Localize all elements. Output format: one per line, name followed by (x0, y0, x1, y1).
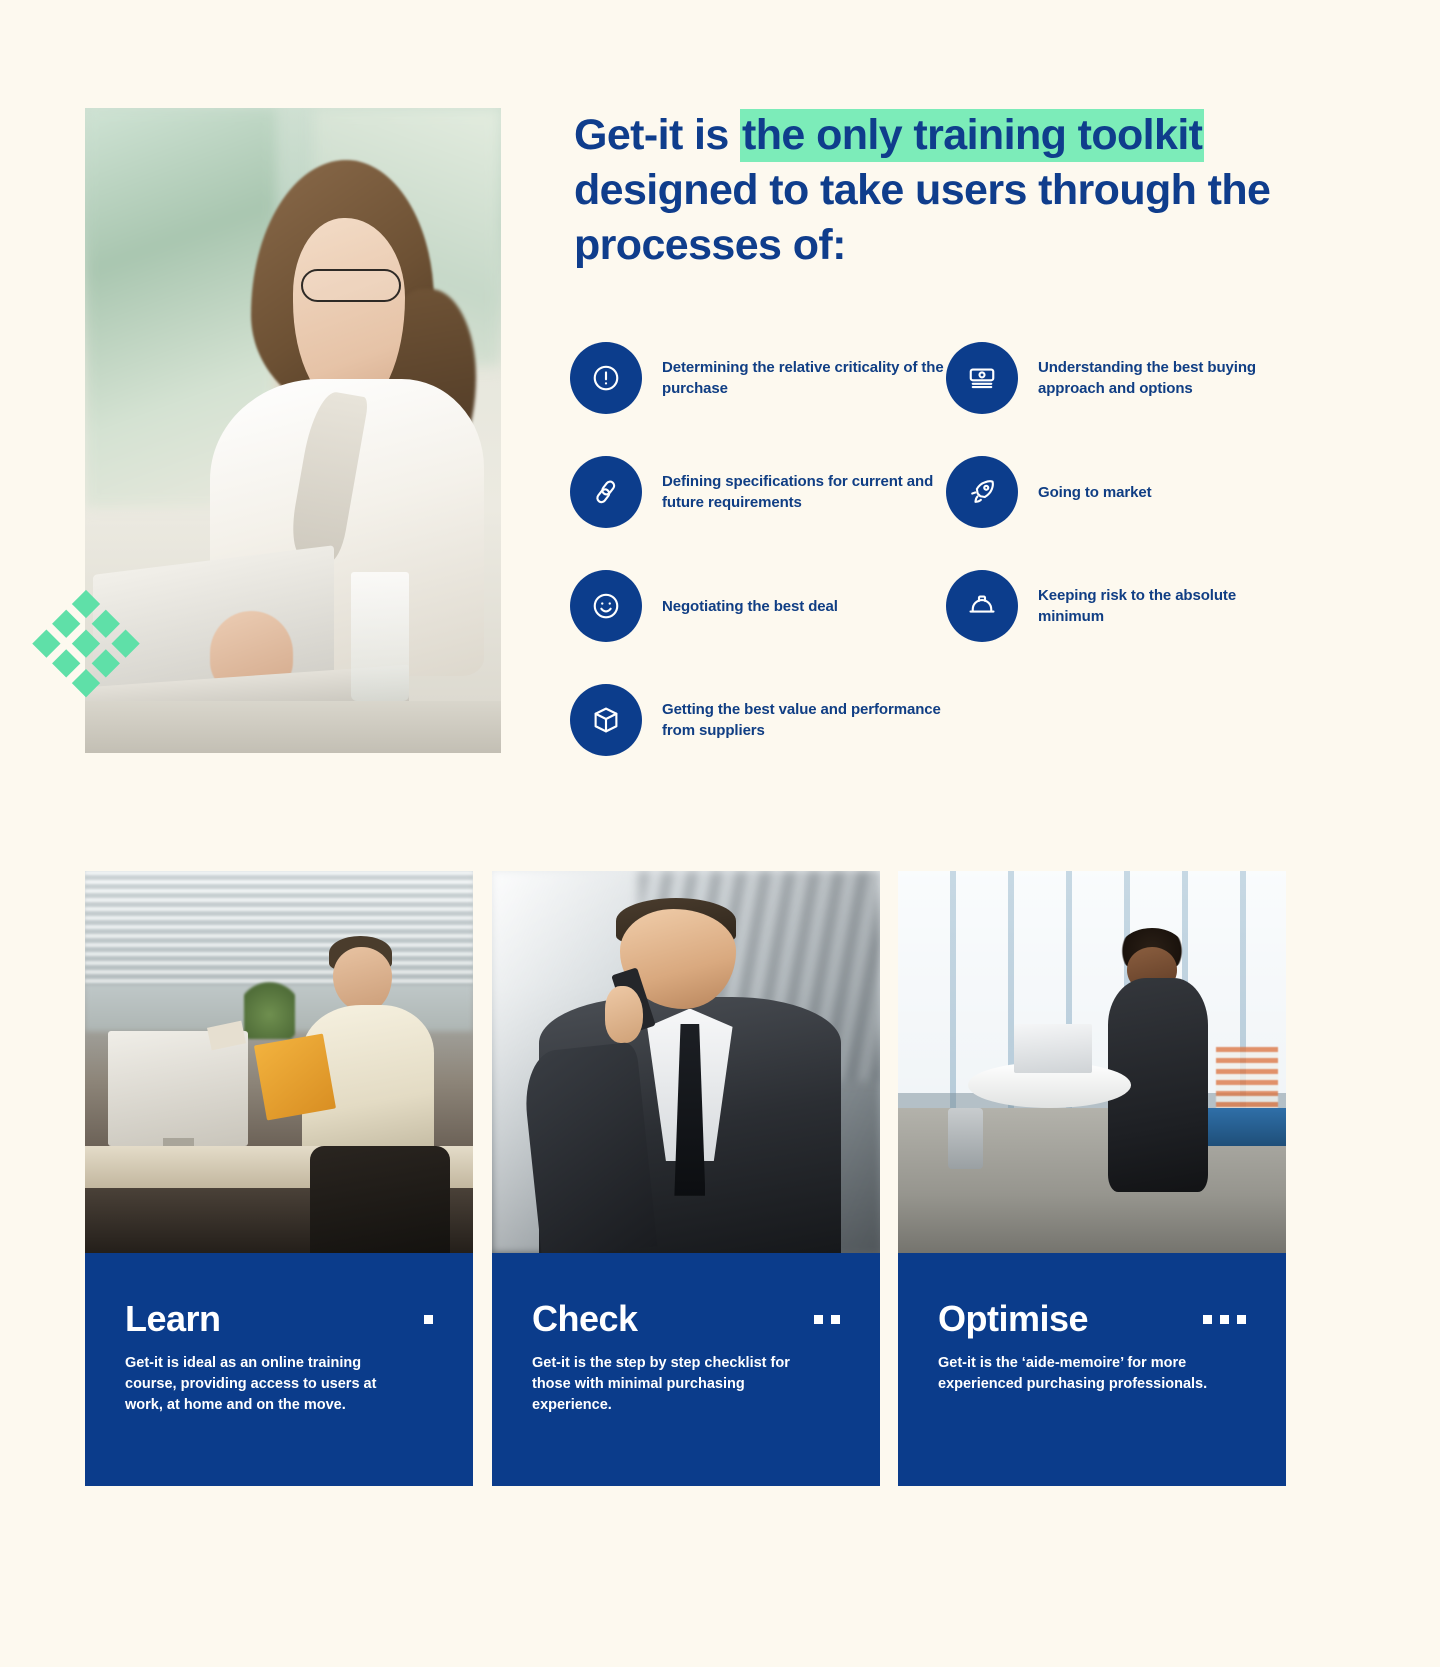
man-on-phone-in-suit-photo (492, 871, 880, 1253)
feature-item-buying-approach: Understanding the best buying approach a… (946, 340, 1286, 416)
step-dot (814, 1315, 823, 1324)
card-body-check: Check Get-it is the step by step checkli… (492, 1253, 880, 1486)
card-title: Check (532, 1299, 638, 1339)
woman-at-laptop-photo (85, 108, 501, 753)
photo-laptop (1014, 1024, 1092, 1074)
card-body-learn: Learn Get-it is ideal as an online train… (85, 1253, 473, 1486)
photo-plant (244, 978, 294, 1039)
card-title-row: Optimise (938, 1299, 1246, 1339)
card-step-dots-3 (1203, 1315, 1246, 1324)
feature-label: Negotiating the best deal (662, 596, 838, 617)
photo-open-book (253, 1034, 335, 1121)
feature-item-negotiating: Negotiating the best deal (570, 568, 950, 644)
photo-monitor (108, 1031, 248, 1146)
photo-blinds (85, 871, 473, 986)
headline-highlight: the only training toolkit (740, 109, 1204, 162)
feature-item-going-to-market: Going to market (946, 454, 1286, 530)
card-title: Optimise (938, 1299, 1088, 1339)
feature-item-risk-minimum: Keeping risk to the absolute minimum (946, 568, 1286, 644)
feature-label: Defining specifications for current and … (662, 471, 950, 513)
card-image-check (492, 871, 880, 1253)
package-box-icon (570, 684, 642, 756)
headline-rest: designed to take users through the proce… (574, 166, 1270, 269)
hero-image (85, 108, 501, 753)
feature-label: Getting the best value and performance f… (662, 699, 950, 741)
card-optimise[interactable]: Optimise Get-it is the ‘aide-memoire’ fo… (898, 871, 1286, 1486)
hero-section: Get-it is the only training toolkit desi… (0, 0, 1440, 830)
feature-label: Going to market (1038, 482, 1152, 503)
headline-lead: Get-it is (574, 111, 740, 159)
man-reading-book-at-desk-photo (85, 871, 473, 1253)
banknote-icon (946, 342, 1018, 414)
feature-column-right: Understanding the best buying approach a… (946, 340, 1286, 682)
card-title-row: Learn (125, 1299, 433, 1339)
chain-link-icon (570, 456, 642, 528)
photo-glasses (301, 269, 401, 301)
feature-label: Keeping risk to the absolute minimum (1038, 585, 1286, 627)
step-dot (1203, 1315, 1212, 1324)
card-check[interactable]: Check Get-it is the step by step checkli… (492, 871, 880, 1486)
rocket-icon (946, 456, 1018, 528)
step-dot (1237, 1315, 1246, 1324)
photo-hand (605, 986, 644, 1043)
card-title-row: Check (532, 1299, 840, 1339)
card-image-learn (85, 871, 473, 1253)
card-step-dots-2 (814, 1315, 840, 1324)
smiley-face-icon (570, 570, 642, 642)
card-description: Get-it is the step by step checklist for… (532, 1353, 812, 1416)
page-root: Get-it is the only training toolkit desi… (0, 0, 1440, 1667)
photo-stool (948, 1108, 983, 1169)
feature-item-specifications: Defining specifications for current and … (570, 454, 950, 530)
page-headline: Get-it is the only training toolkit desi… (574, 108, 1274, 273)
photo-arm (520, 1041, 657, 1253)
card-learn[interactable]: Learn Get-it is ideal as an online train… (85, 871, 473, 1486)
card-image-optimise (898, 871, 1286, 1253)
photo-office-chair (310, 1146, 450, 1253)
card-body-optimise: Optimise Get-it is the ‘aide-memoire’ fo… (898, 1253, 1286, 1486)
card-step-dots-1 (424, 1315, 433, 1324)
exclamation-circle-icon (570, 342, 642, 414)
hard-hat-icon (946, 570, 1018, 642)
card-title: Learn (125, 1299, 221, 1339)
step-dot (424, 1315, 433, 1324)
card-description: Get-it is the ‘aide-memoire’ for more ex… (938, 1353, 1218, 1395)
step-dot (831, 1315, 840, 1324)
card-description: Get-it is ideal as an online training co… (125, 1353, 405, 1416)
feature-label: Determining the relative criticality of … (662, 357, 950, 399)
feature-label: Understanding the best buying approach a… (1038, 357, 1286, 399)
step-dot (1220, 1315, 1229, 1324)
photo-desk (85, 701, 501, 753)
feature-item-criticality: Determining the relative criticality of … (570, 340, 950, 416)
feature-column-left: Determining the relative criticality of … (570, 340, 950, 796)
feature-item-supplier-value: Getting the best value and performance f… (570, 682, 950, 758)
photo-glass-tumbler (351, 572, 409, 701)
feature-cards-section: Learn Get-it is ideal as an online train… (0, 871, 1440, 1491)
woman-working-at-round-table-photo (898, 871, 1286, 1253)
